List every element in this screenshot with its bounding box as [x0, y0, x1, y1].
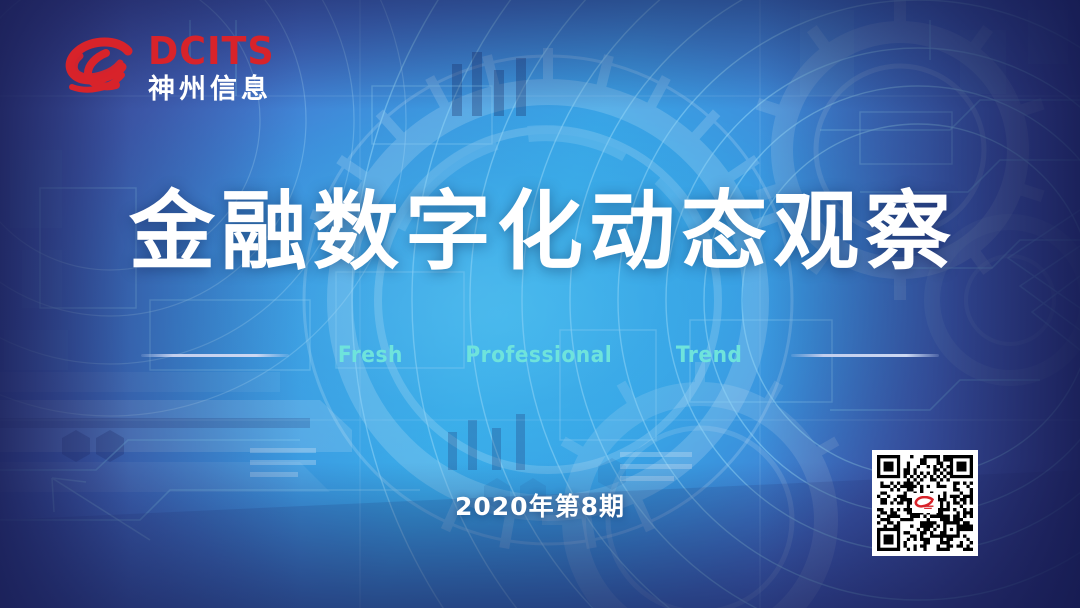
dcits-logo[interactable]: DCITS 神州信息	[62, 32, 280, 103]
qr-code[interactable]	[872, 450, 978, 556]
tagline-word-fresh: Fresh	[338, 343, 403, 368]
tagline-rule-left	[141, 354, 289, 357]
swirl-spiral-icon	[62, 35, 138, 101]
tagline-row: Fresh Professional Trend	[0, 340, 1080, 370]
tagline-rule-right	[791, 354, 939, 357]
logo-wordmark: DCITS 神州信息	[148, 32, 280, 103]
dcits-mini-logo-icon	[912, 493, 938, 513]
tagline-word-professional: Professional	[466, 343, 613, 368]
logo-chinese-text: 神州信息	[148, 76, 280, 103]
gear-ring-large-center	[304, 48, 792, 549]
logo-english-text: DCITS	[148, 32, 275, 70]
tagline-word-trend: Trend	[676, 343, 742, 368]
page-title: 金融数字化动态观察	[0, 186, 1080, 279]
faint-blocks-topright	[800, 10, 1068, 96]
band-shapes-left	[0, 372, 352, 492]
poster-canvas: DCITS 神州信息 金融数字化动态观察 Fresh Professional …	[0, 0, 1080, 608]
